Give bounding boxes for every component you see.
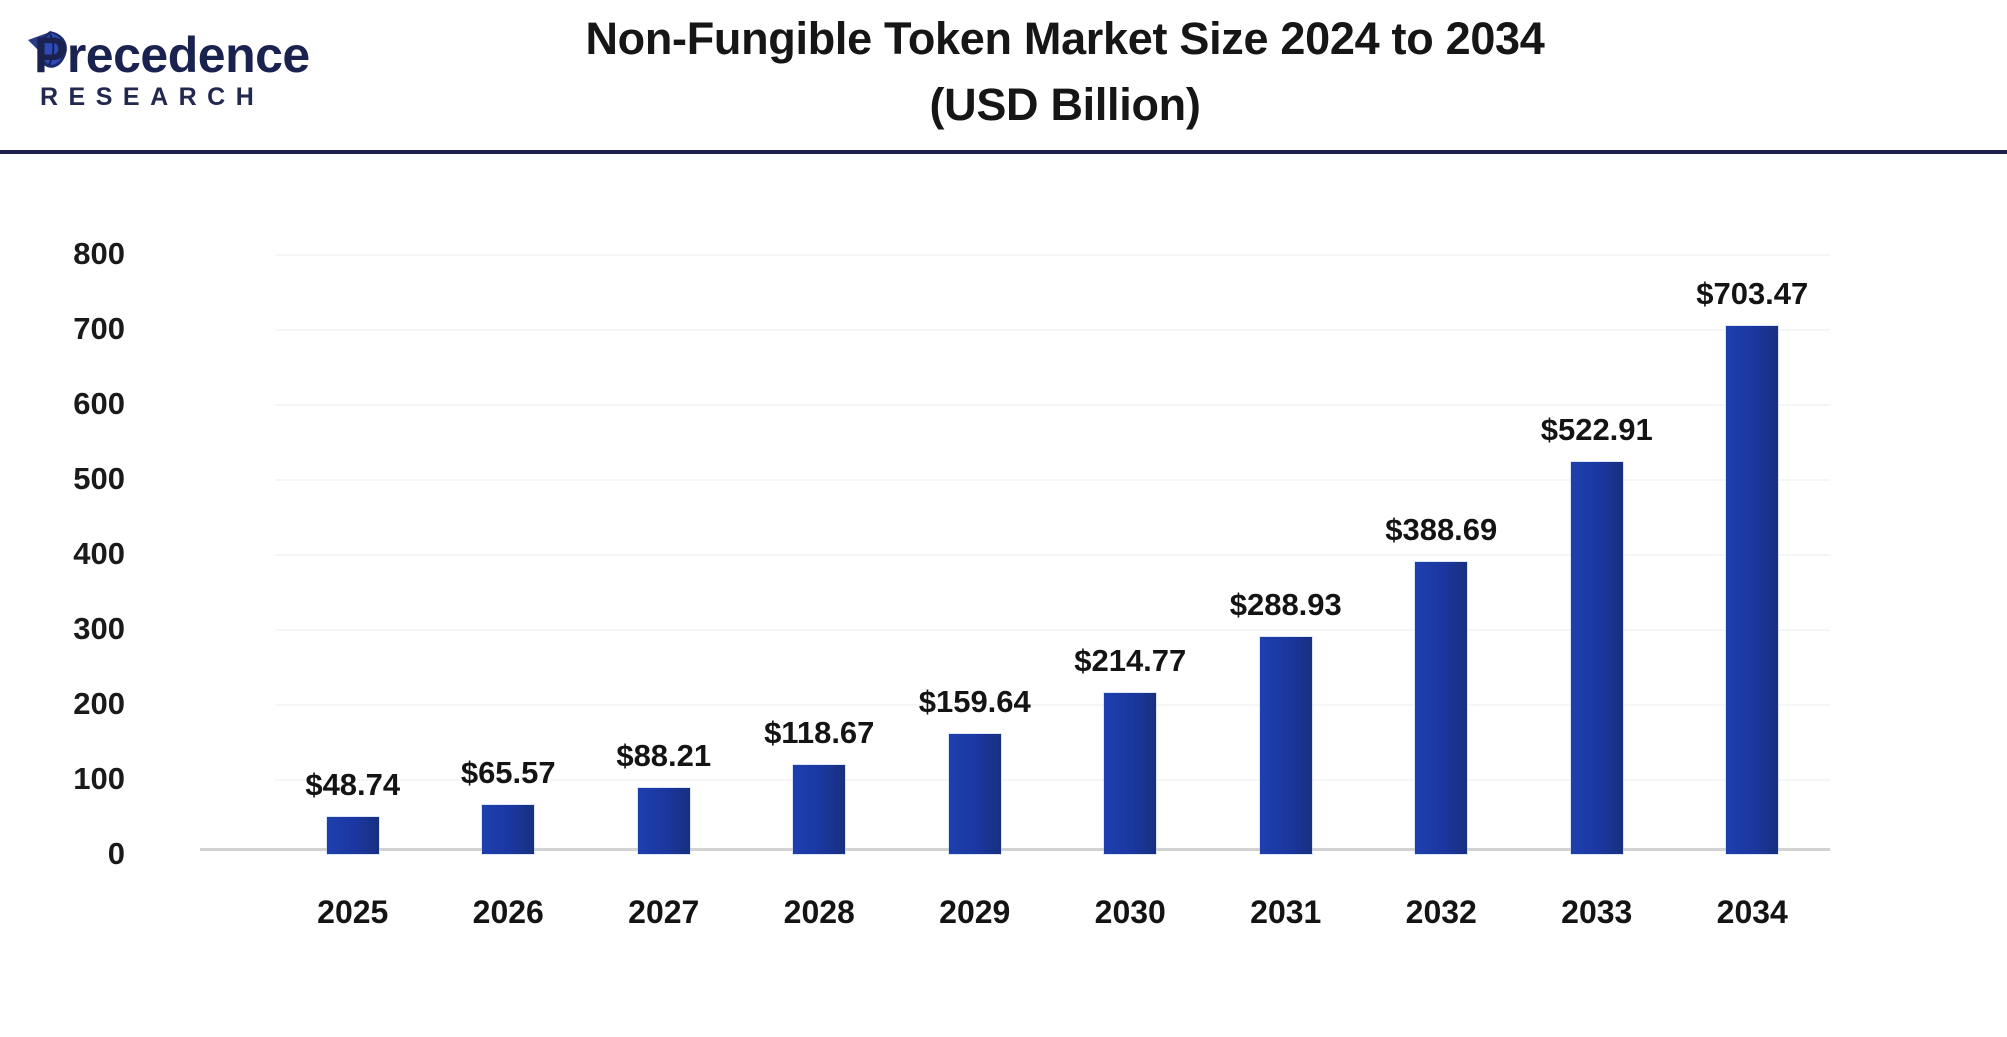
gridline — [275, 404, 1830, 406]
bar-2029[interactable] — [949, 734, 1001, 854]
precedence-research-logo: Precedence RESEARCH — [18, 26, 348, 116]
chart-page: Precedence RESEARCH Non-Fungible Token M… — [0, 0, 2007, 1037]
logo-wordmark: Precedence — [34, 26, 310, 84]
y-axis-tick-label: 800 — [15, 238, 125, 269]
x-axis-tick-2034: 2034 — [1652, 896, 1852, 928]
bar-2031[interactable] — [1260, 637, 1312, 854]
gridline — [275, 254, 1830, 256]
y-axis-tick-label: 700 — [15, 313, 125, 344]
bar-2026[interactable] — [482, 805, 534, 854]
chart-canvas: 0100200300400500600700800$48.742025$65.5… — [0, 154, 2007, 1037]
bar-value-label: $522.91 — [1467, 414, 1727, 445]
y-axis-tick-label: 100 — [15, 763, 125, 794]
y-axis-tick-label: 500 — [15, 463, 125, 494]
bar-value-label: $214.77 — [1000, 645, 1260, 676]
bar-2027[interactable] — [638, 788, 690, 854]
page-title-line-1: Non-Fungible Token Market Size 2024 to 2… — [420, 6, 1710, 72]
bar-value-label: $159.64 — [845, 686, 1105, 717]
y-axis-tick-label: 0 — [15, 838, 125, 869]
y-axis-tick-label: 300 — [15, 613, 125, 644]
bar-2032[interactable] — [1415, 562, 1467, 854]
y-axis-tick-label: 400 — [15, 538, 125, 569]
bar-value-label: $703.47 — [1622, 278, 1882, 309]
y-axis-tick-label: 200 — [15, 688, 125, 719]
bar-2033[interactable] — [1571, 462, 1623, 854]
bar-2030[interactable] — [1104, 693, 1156, 854]
bar-value-label: $388.69 — [1311, 514, 1571, 545]
page-title: Non-Fungible Token Market Size 2024 to 2… — [420, 6, 1710, 138]
logo-subtext: RESEARCH — [40, 82, 264, 112]
page-header: Precedence RESEARCH Non-Fungible Token M… — [0, 0, 2007, 152]
bar-value-label: $288.93 — [1156, 589, 1416, 620]
gridline — [275, 329, 1830, 331]
y-axis-tick-label: 600 — [15, 388, 125, 419]
bar-2025[interactable] — [327, 817, 379, 854]
bar-2028[interactable] — [793, 765, 845, 854]
bar-value-label: $118.67 — [689, 717, 949, 748]
bar-2034[interactable] — [1726, 326, 1778, 854]
page-title-line-2: (USD Billion) — [420, 72, 1710, 138]
